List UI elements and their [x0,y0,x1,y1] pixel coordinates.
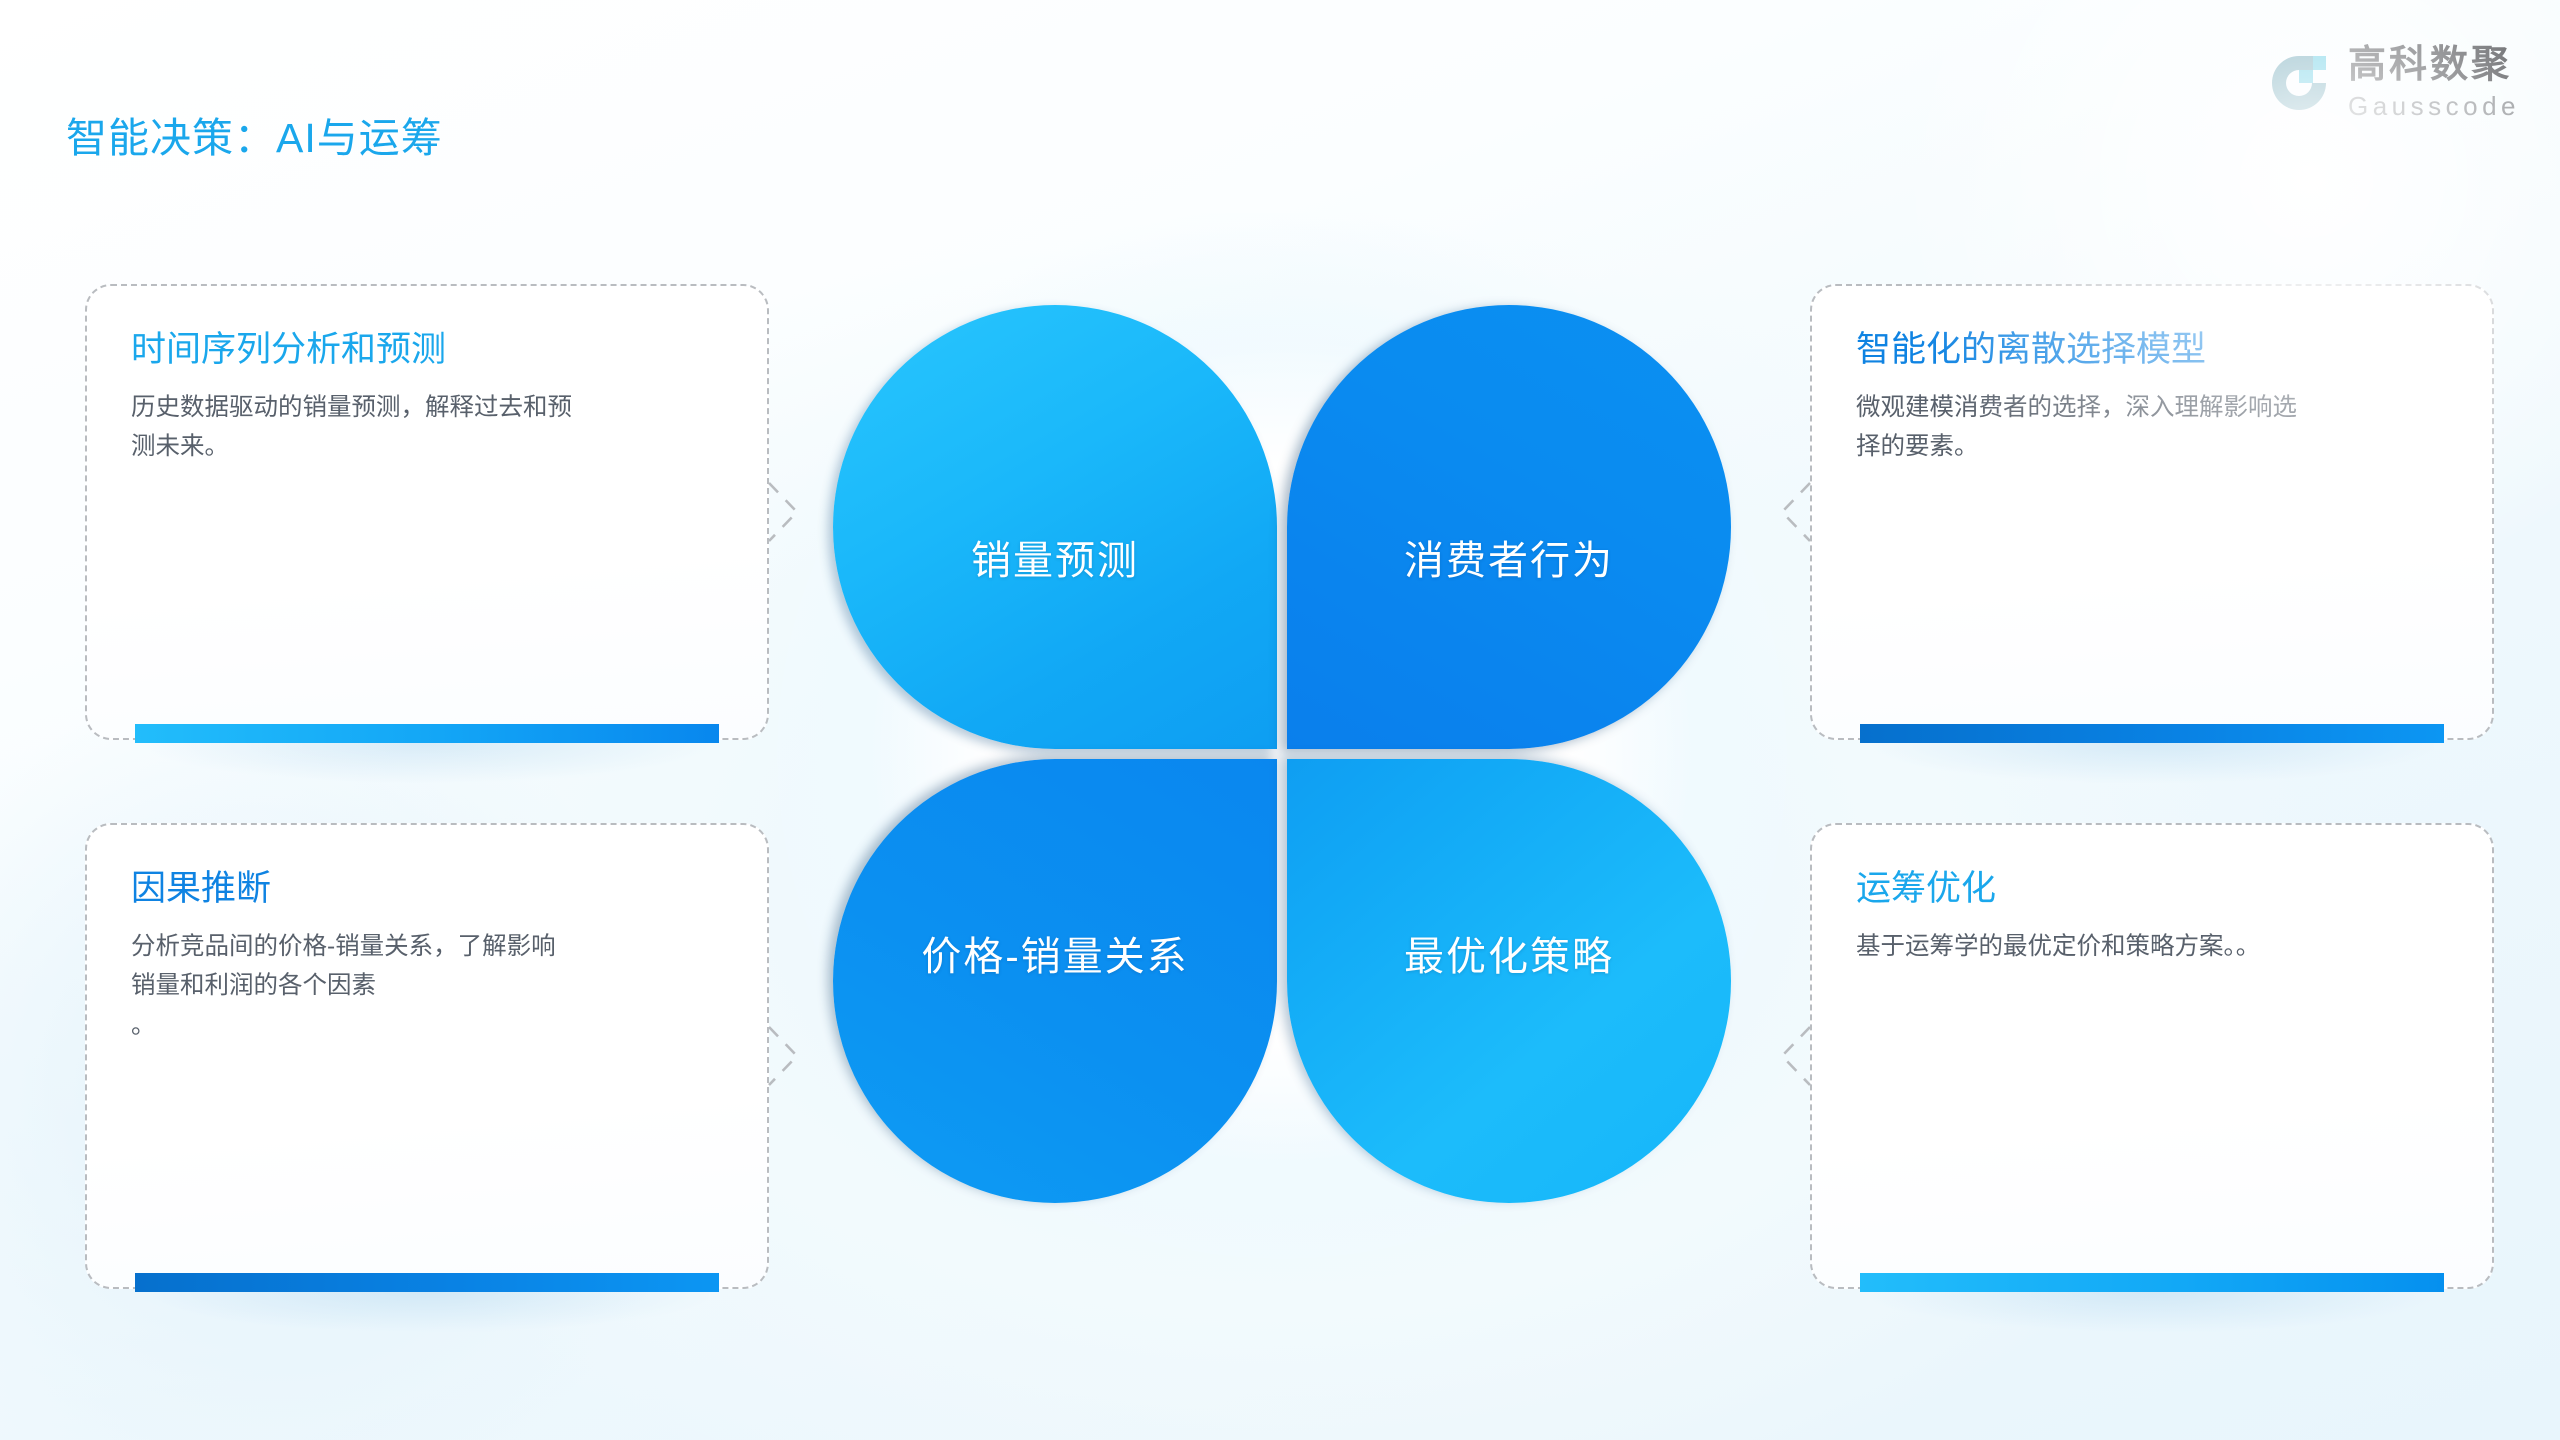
card-accent-bar [135,1273,719,1292]
clover-diagram: 销量预测 消费者行为 价格-销量关系 最优化策略 [833,305,1731,1203]
chevron-left-icon [1766,1017,1812,1095]
card-operations-optimization[interactable]: 运筹优化 基于运筹学的最优定价和策略方案。。 [1810,823,2494,1289]
card-accent-bar [135,724,719,743]
petal-label: 价格-销量关系 [921,924,1188,982]
chevron-right-icon [767,1017,813,1095]
chevron-right-icon [767,473,813,551]
card-body: 分析竞品间的价格-销量关系，了解影响 销量和利润的各个因素 。 [131,927,696,1046]
card-title: 因果推断 [131,867,723,911]
card-causal-inference[interactable]: 因果推断 分析竞品间的价格-销量关系，了解影响 销量和利润的各个因素 。 [85,823,769,1289]
petal-label: 消费者行为 [1404,528,1614,586]
gausscode-ring-icon [2268,52,2330,114]
page-title: 智能决策：AI与运筹 [66,104,443,164]
petal-consumer-behavior[interactable]: 消费者行为 [1287,305,1731,749]
slide-canvas: 智能决策：AI与运筹 高科数聚 Gausscode 销量预测 消费者行为 价格-… [0,0,2560,1440]
petal-optimal-strategy[interactable]: 最优化策略 [1287,759,1731,1203]
card-title: 智能化的离散选择模型 [1856,328,2448,372]
card-time-series[interactable]: 时间序列分析和预测 历史数据驱动的销量预测，解释过去和预 测未来。 [85,284,769,740]
card-body: 基于运筹学的最优定价和策略方案。。 [1856,927,2421,967]
card-discrete-choice[interactable]: 智能化的离散选择模型 微观建模消费者的选择，深入理解影响选 择的要素。 [1810,284,2494,740]
logo-name-en: Gausscode [2348,93,2520,119]
petal-price-volume-relation[interactable]: 价格-销量关系 [833,759,1277,1203]
card-body: 微观建模消费者的选择，深入理解影响选 择的要素。 [1856,388,2421,467]
card-title: 时间序列分析和预测 [131,328,723,372]
card-accent-bar [1860,724,2444,743]
logo-name-cn: 高科数聚 [2348,46,2520,84]
petal-label: 销量预测 [971,528,1139,586]
card-body: 历史数据驱动的销量预测，解释过去和预 测未来。 [131,388,696,467]
chevron-left-icon [1766,473,1812,551]
brand-logo: 高科数聚 Gausscode [2268,46,2520,119]
card-accent-bar [1860,1273,2444,1292]
petal-label: 最优化策略 [1404,924,1614,982]
petal-sales-forecast[interactable]: 销量预测 [833,305,1277,749]
card-title: 运筹优化 [1856,867,2448,911]
